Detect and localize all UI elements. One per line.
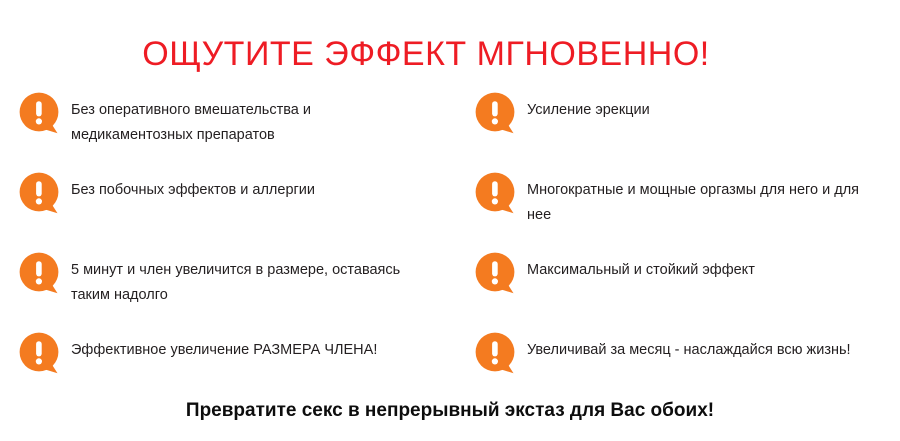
exclamation-speech-bubble-icon xyxy=(474,171,518,215)
list-item: Усиление эрекции xyxy=(474,88,900,168)
exclamation-speech-bubble-icon xyxy=(18,91,62,135)
list-item: Многократные и мощные оргазмы для него и… xyxy=(474,168,900,248)
list-item: Увеличивай за месяц - наслаждайся всю жи… xyxy=(474,328,900,408)
benefits-columns: Без оперативного вмешательства и медикам… xyxy=(0,88,900,408)
exclamation-speech-bubble-icon xyxy=(18,251,62,295)
list-item-label: Максимальный и стойкий эффект xyxy=(527,248,755,283)
benefits-column-right: Усиление эрекции Многократные и мощные о… xyxy=(460,88,900,408)
footer-slogan: Превратите секс в непрерывный экстаз для… xyxy=(0,398,900,424)
exclamation-speech-bubble-icon xyxy=(474,251,518,295)
exclamation-speech-bubble-icon xyxy=(474,91,518,135)
list-item: 5 минут и член увеличится в размере, ост… xyxy=(18,248,460,328)
list-item-label: Усиление эрекции xyxy=(527,88,650,123)
list-item: Максимальный и стойкий эффект xyxy=(474,248,900,328)
page-title: ОЩУТИТЕ ЭФФЕКТ МГНОВЕННО! xyxy=(0,33,852,75)
list-item-label: Без оперативного вмешательства и медикам… xyxy=(71,88,401,148)
list-item-label: Без побочных эффектов и аллергии xyxy=(71,168,315,203)
promo-benefits-page: ОЩУТИТЕ ЭФФЕКТ МГНОВЕННО! Без оперативно… xyxy=(0,0,900,441)
list-item: Эффективное увеличение РАЗМЕРА ЧЛЕНА! xyxy=(18,328,460,408)
list-item-label: 5 минут и член увеличится в размере, ост… xyxy=(71,248,401,308)
list-item: Без оперативного вмешательства и медикам… xyxy=(18,88,460,168)
list-item-label: Многократные и мощные оргазмы для него и… xyxy=(527,168,887,228)
exclamation-speech-bubble-icon xyxy=(474,331,518,375)
exclamation-speech-bubble-icon xyxy=(18,171,62,215)
list-item-label: Эффективное увеличение РАЗМЕРА ЧЛЕНА! xyxy=(71,328,377,363)
exclamation-speech-bubble-icon xyxy=(18,331,62,375)
list-item-label: Увеличивай за месяц - наслаждайся всю жи… xyxy=(527,328,851,363)
benefits-column-left: Без оперативного вмешательства и медикам… xyxy=(0,88,460,408)
list-item: Без побочных эффектов и аллергии xyxy=(18,168,460,248)
